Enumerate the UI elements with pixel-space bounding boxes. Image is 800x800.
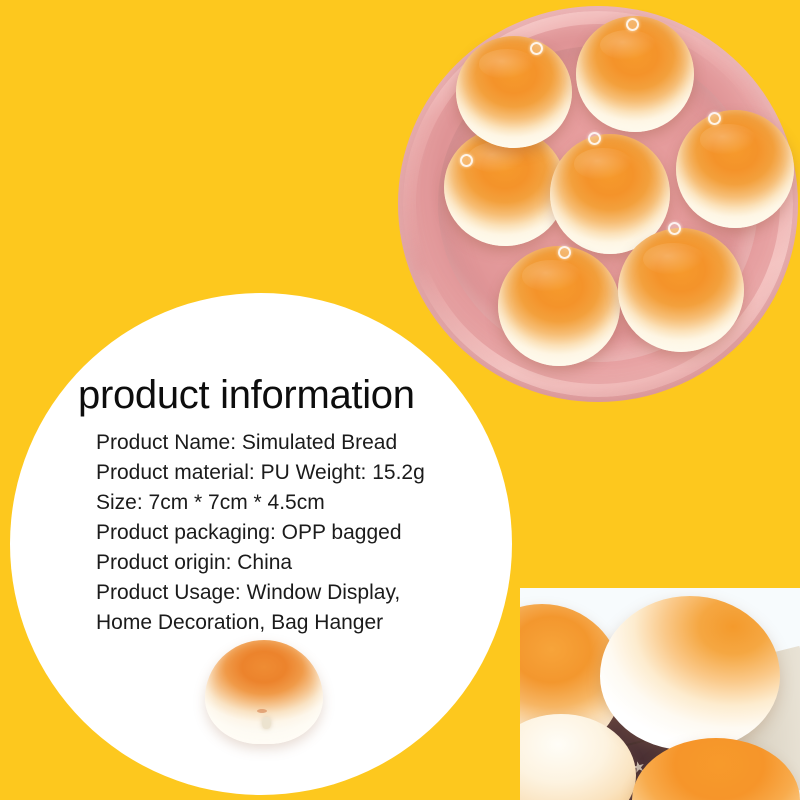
bread-nub [262, 717, 271, 729]
bread-roll [576, 16, 694, 132]
hanger-hook-icon [588, 132, 601, 145]
spec-line-usage-1: Product Usage: Window Display, [96, 578, 498, 608]
hanger-hook-icon [708, 112, 721, 125]
hanger-hook-icon [558, 246, 571, 259]
hanger-hook-icon [626, 18, 639, 31]
spec-line-usage-2: Home Decoration, Bag Hanger [96, 608, 498, 638]
spec-line-product-name: Product Name: Simulated Bread [96, 428, 498, 458]
plate-photo [398, 6, 798, 402]
hanger-hook-icon [668, 222, 681, 235]
page-title: product information [78, 374, 498, 416]
bread-speck [257, 709, 267, 713]
spec-line-origin: Product origin: China [96, 548, 498, 578]
product-poster: ★ ★ ATE product information Product Name… [0, 0, 800, 800]
hanger-hook-icon [530, 42, 543, 55]
product-spec-list: Product Name: Simulated Bread Product ma… [78, 428, 498, 638]
spec-line-material-weight: Product material: PU Weight: 15.2g [96, 458, 498, 488]
bread-roll [456, 36, 572, 148]
bread-roll [618, 228, 744, 352]
bread-roll [498, 246, 620, 366]
spec-line-packaging: Product packaging: OPP bagged [96, 518, 498, 548]
hanger-hook-icon [460, 154, 473, 167]
closeup-photo: ★ ★ ATE [520, 588, 800, 800]
bread-roll [676, 110, 794, 228]
product-information-block: product information Product Name: Simula… [78, 374, 498, 638]
spec-line-size: Size: 7cm * 7cm * 4.5cm [96, 488, 498, 518]
bread-roll-closeup [600, 596, 780, 750]
